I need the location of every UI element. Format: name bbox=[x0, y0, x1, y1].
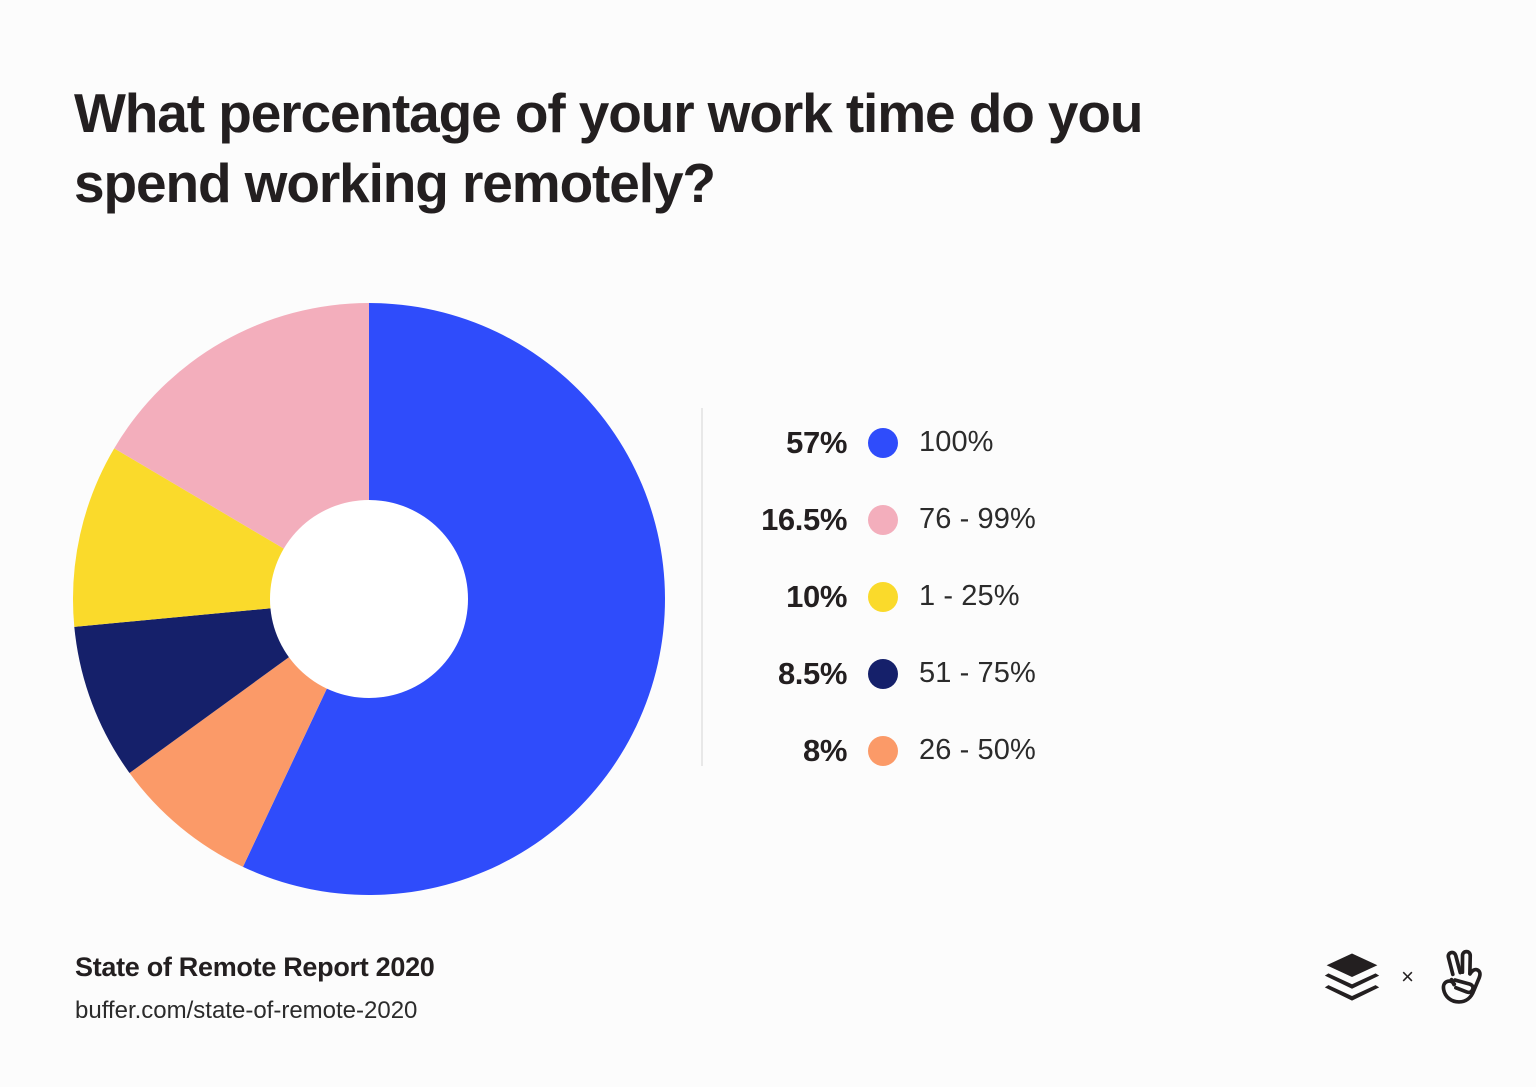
legend-row[interactable]: 16.5%76 - 99% bbox=[735, 481, 1155, 558]
legend-row[interactable]: 57%100% bbox=[735, 404, 1155, 481]
legend-color-swatch-icon bbox=[868, 582, 898, 612]
legend-row[interactable]: 8%26 - 50% bbox=[735, 712, 1155, 789]
legend-row[interactable]: 8.5%51 - 75% bbox=[735, 635, 1155, 712]
legend-color-swatch-icon bbox=[868, 505, 898, 535]
angellist-logo-icon bbox=[1434, 948, 1490, 1006]
page-title: What percentage of your work time do you… bbox=[74, 78, 1414, 219]
chart-legend: 57%100%16.5%76 - 99%10%1 - 25%8.5%51 - 7… bbox=[735, 404, 1155, 789]
infographic-canvas: What percentage of your work time do you… bbox=[0, 0, 1536, 1087]
legend-value: 57% bbox=[735, 425, 847, 461]
buffer-logo-icon bbox=[1323, 948, 1381, 1006]
legend-swatch-cell bbox=[847, 582, 919, 612]
legend-swatch-cell bbox=[847, 428, 919, 458]
legend-value: 8.5% bbox=[735, 656, 847, 692]
footer-url: buffer.com/state-of-remote-2020 bbox=[75, 997, 417, 1025]
legend-label: 76 - 99% bbox=[919, 503, 1036, 536]
legend-label: 51 - 75% bbox=[919, 657, 1036, 690]
legend-value: 10% bbox=[735, 579, 847, 615]
donut-hole bbox=[270, 500, 468, 698]
donut-chart-svg bbox=[70, 300, 668, 898]
legend-swatch-cell bbox=[847, 659, 919, 689]
logo-cross-symbol: × bbox=[1399, 966, 1416, 988]
legend-divider bbox=[701, 408, 703, 766]
legend-color-swatch-icon bbox=[868, 428, 898, 458]
brand-logo-row: × bbox=[1323, 948, 1490, 1006]
legend-color-swatch-icon bbox=[868, 659, 898, 689]
legend-value: 16.5% bbox=[735, 502, 847, 538]
donut-chart bbox=[70, 300, 668, 898]
legend-swatch-cell bbox=[847, 736, 919, 766]
legend-row[interactable]: 10%1 - 25% bbox=[735, 558, 1155, 635]
legend-color-swatch-icon bbox=[868, 736, 898, 766]
legend-label: 100% bbox=[919, 426, 994, 459]
legend-label: 26 - 50% bbox=[919, 734, 1036, 767]
legend-value: 8% bbox=[735, 733, 847, 769]
footer-source-label: State of Remote Report 2020 bbox=[75, 952, 435, 983]
legend-swatch-cell bbox=[847, 505, 919, 535]
legend-label: 1 - 25% bbox=[919, 580, 1020, 613]
